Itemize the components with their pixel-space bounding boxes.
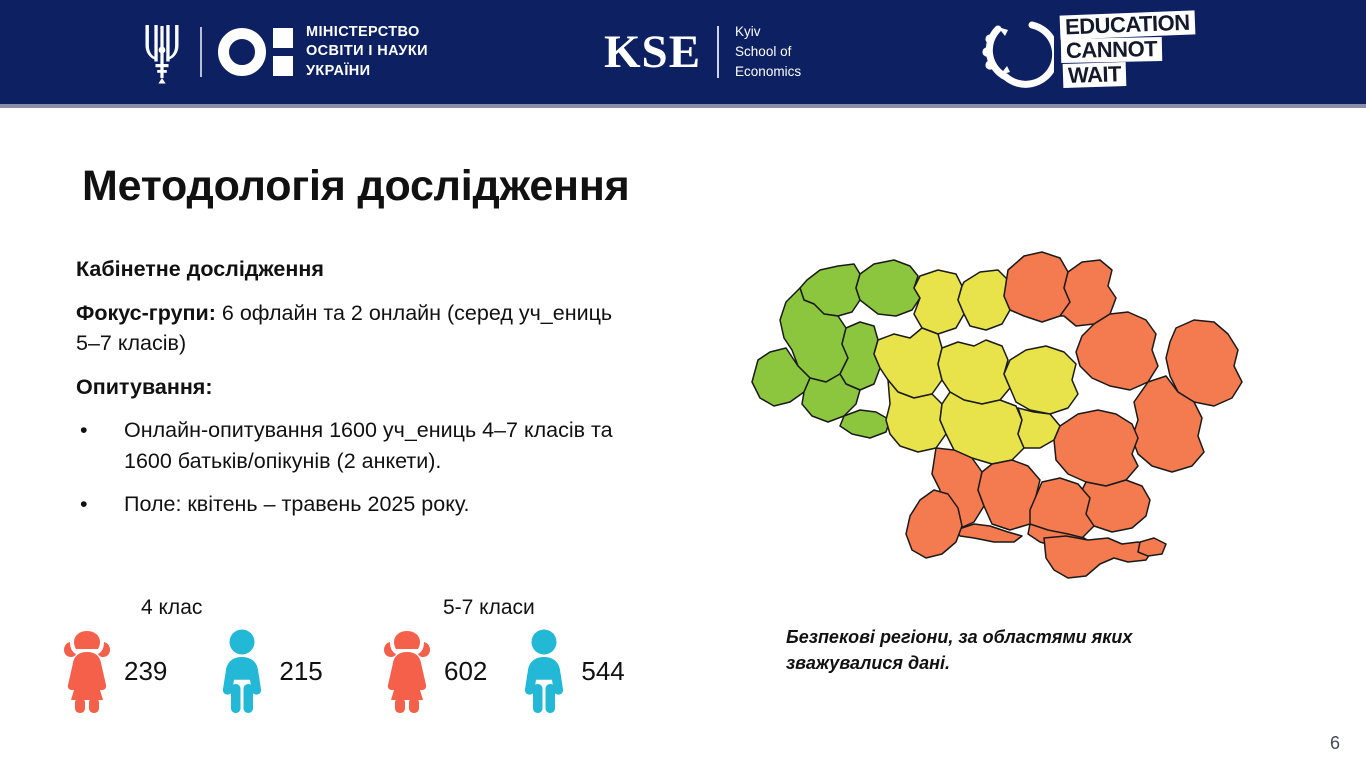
stat-girl-grade-4: 239 xyxy=(56,628,167,714)
map-region-orange-crimea xyxy=(1044,536,1154,578)
stat-boy-grade-4: 215 xyxy=(211,628,322,714)
list-item: • Онлайн-опитування 1600 уч_ениць 4–7 кл… xyxy=(76,415,621,477)
kse-line-1: Kyiv xyxy=(735,22,801,42)
logo-ministry-of-education-ukraine: МІНІСТЕРСТВО ОСВІТИ І НАУКИ УКРАЇНИ xyxy=(140,18,428,86)
kse-line-2: School of xyxy=(735,42,801,62)
stat-pair: 602 544 xyxy=(376,628,625,714)
map-region-orange-kerch xyxy=(1138,538,1166,556)
desk-research-heading: Кабінетне дослідження xyxy=(76,254,621,285)
stat-pair: 239 215 xyxy=(56,628,323,714)
list-item-label: Поле: квітень – травень 2025 року. xyxy=(124,489,621,520)
mon-circle-icon xyxy=(218,28,266,76)
stat-girl-grades-5-7: 602 xyxy=(376,628,487,714)
map-caption: Безпекові регіони, за областями яких зва… xyxy=(786,624,1206,676)
ecw-word-3: WAIT xyxy=(1063,62,1127,88)
ministry-line-3: УКРАЇНИ xyxy=(306,62,428,81)
list-item-label: Онлайн-опитування 1600 уч_ениць 4–7 клас… xyxy=(124,415,621,477)
focus-groups-paragraph: Фокус-групи: 6 офлайн та 2 онлайн (серед… xyxy=(76,298,621,359)
bullet-marker-icon: • xyxy=(76,489,124,520)
stat-group-caption: 4 клас xyxy=(141,596,202,620)
stat-boy-grades-5-7: 544 xyxy=(513,628,624,714)
girl-figure-icon xyxy=(56,628,118,714)
logo-divider xyxy=(200,27,202,77)
map-region-yellow-zhytomyr xyxy=(914,270,964,334)
header-rule xyxy=(0,104,1366,108)
ecw-word-2: CANNOT xyxy=(1061,37,1163,63)
map-region-yellow-poltava xyxy=(1004,346,1078,414)
ministry-line-2: ОСВІТИ І НАУКИ xyxy=(306,42,428,61)
header-bar: МІНІСТЕРСТВО ОСВІТИ І НАУКИ УКРАЇНИ KSE … xyxy=(0,0,1366,104)
map-region-orange-chernihiv xyxy=(1004,252,1070,322)
map-region-green-rivne xyxy=(856,260,920,316)
mon-mark-icon xyxy=(218,28,293,76)
logo-kyiv-school-of-economics: KSE Kyiv School of Economics xyxy=(604,20,801,84)
map-region-yellow-khmelnytskyi xyxy=(874,328,942,398)
ukraine-map-svg xyxy=(742,242,1302,582)
map-region-orange-dnipro xyxy=(1054,410,1138,486)
desk-research-heading-text: Кабінетне дослідження xyxy=(76,257,324,281)
survey-heading-text: Опитування: xyxy=(76,375,213,399)
page-number: 6 xyxy=(1330,733,1340,754)
map-region-green-chernivtsi xyxy=(840,410,890,438)
kse-divider xyxy=(717,26,719,78)
slide: МІНІСТЕРСТВО ОСВІТИ І НАУКИ УКРАЇНИ KSE … xyxy=(0,0,1366,772)
survey-heading: Опитування: xyxy=(76,372,621,403)
ecw-word-1: EDUCATION xyxy=(1060,10,1195,39)
methodology-text-column: Кабінетне дослідження Фокус-групи: 6 офл… xyxy=(76,254,621,533)
girl-figure-icon xyxy=(376,628,438,714)
ministry-logo-text: МІНІСТЕРСТВО ОСВІТИ І НАУКИ УКРАЇНИ xyxy=(306,23,428,80)
bullet-marker-icon: • xyxy=(76,415,124,477)
ecw-wordmark: EDUCATION CANNOT WAIT xyxy=(1060,13,1195,87)
boy-figure-icon xyxy=(513,628,575,714)
kse-acronym: KSE xyxy=(604,29,701,76)
logo-education-cannot-wait: EDUCATION CANNOT WAIT xyxy=(976,8,1195,92)
survey-bullet-list: • Онлайн-опитування 1600 уч_ениць 4–7 кл… xyxy=(76,415,621,521)
stat-boy-value: 544 xyxy=(581,656,624,687)
stat-girl-value: 602 xyxy=(444,656,487,687)
stat-girl-value: 239 xyxy=(124,656,167,687)
mon-squares-icon xyxy=(273,28,293,76)
ukraine-regions-map xyxy=(742,242,1302,582)
kse-subtitle: Kyiv School of Economics xyxy=(735,22,801,83)
kse-line-3: Economics xyxy=(735,62,801,82)
ukraine-trident-icon xyxy=(140,20,184,84)
boy-figure-icon xyxy=(211,628,273,714)
stat-boy-value: 215 xyxy=(279,656,322,687)
focus-groups-label: Фокус-групи: xyxy=(76,301,216,325)
list-item: • Поле: квітень – травень 2025 року. xyxy=(76,489,621,520)
page-title: Методологія дослідження xyxy=(82,162,630,211)
map-region-yellow-kyiv-north xyxy=(958,270,1010,330)
respondent-stats: 4 клас 239 xyxy=(56,596,676,726)
stat-group-caption: 5-7 класи xyxy=(443,596,535,620)
ecw-circle-icon xyxy=(976,11,1054,89)
ministry-line-1: МІНІСТЕРСТВО xyxy=(306,23,428,42)
